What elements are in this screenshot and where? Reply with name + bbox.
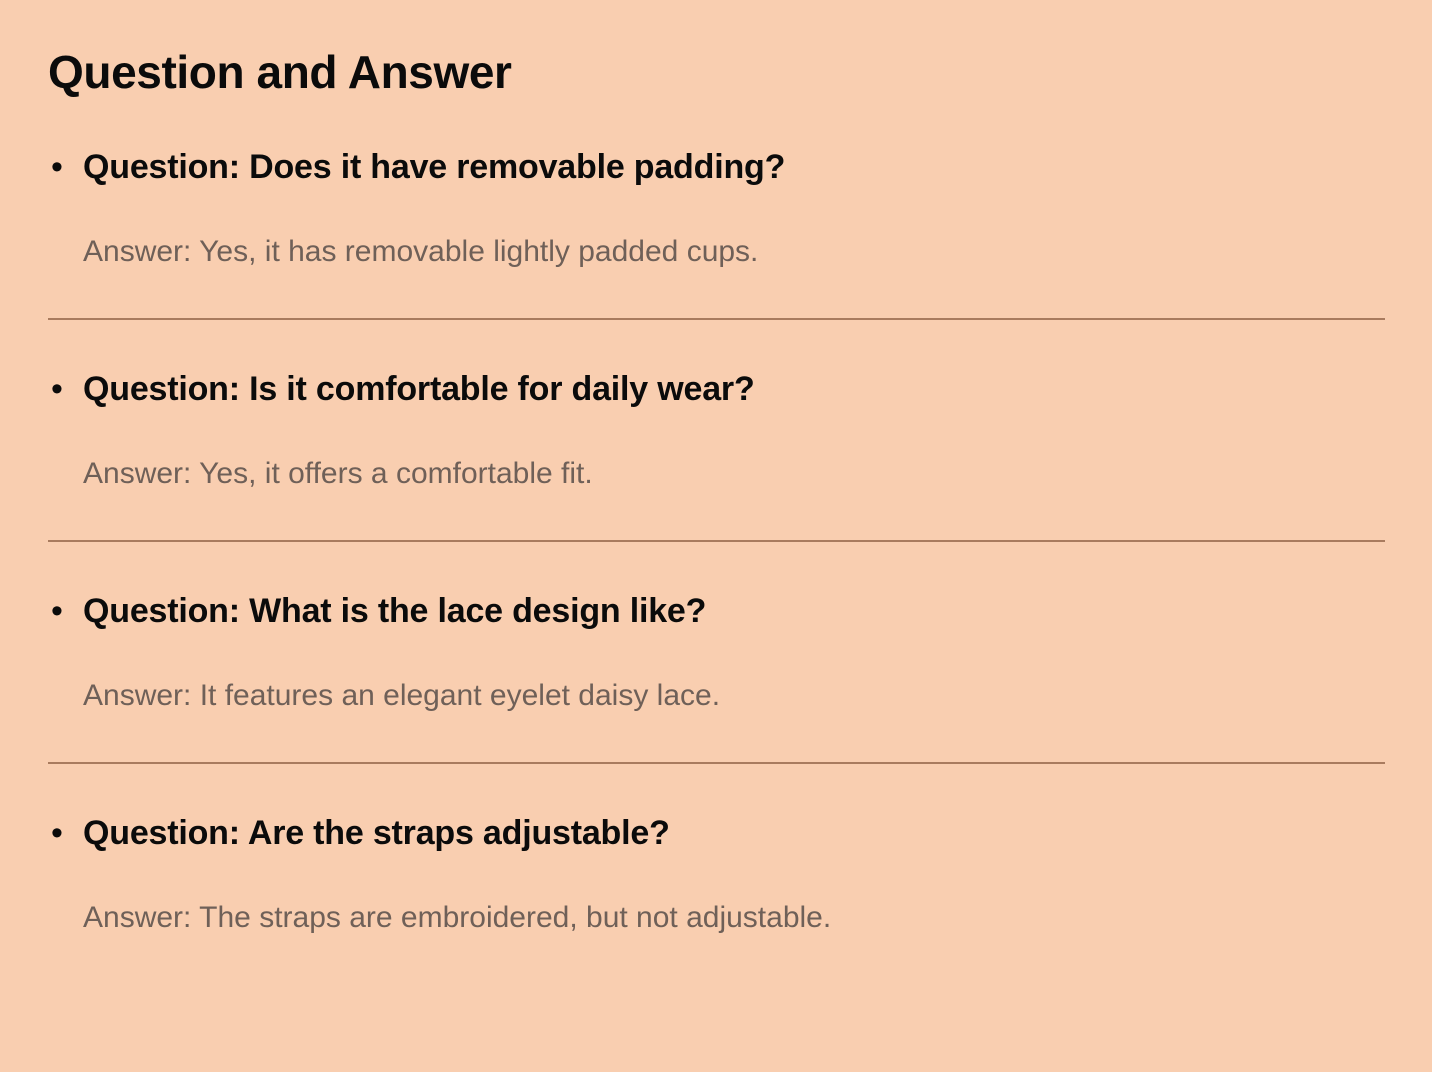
qa-item: • Question: Are the straps adjustable? A… bbox=[48, 810, 1384, 938]
qa-item: • Question: Does it have removable paddi… bbox=[48, 144, 1384, 320]
qa-answer: Answer: It features an elegant eyelet da… bbox=[48, 676, 1384, 716]
qa-question: Question: Is it comfortable for daily we… bbox=[83, 366, 1384, 412]
bullet-icon: • bbox=[48, 810, 83, 856]
bullet-icon: • bbox=[48, 144, 83, 190]
qa-question: Question: Does it have removable padding… bbox=[83, 144, 1384, 190]
qa-divider bbox=[48, 318, 1385, 320]
qa-question: Question: Are the straps adjustable? bbox=[83, 810, 1384, 856]
bullet-icon: • bbox=[48, 588, 83, 634]
qa-question: Question: What is the lace design like? bbox=[83, 588, 1384, 634]
bullet-icon: • bbox=[48, 366, 83, 412]
qa-question-row: • Question: Is it comfortable for daily … bbox=[48, 366, 1384, 412]
qa-answer: Answer: Yes, it has removable lightly pa… bbox=[48, 232, 1384, 272]
question-and-answer-page: Question and Answer • Question: Does it … bbox=[0, 0, 1432, 1072]
qa-question-row: • Question: Does it have removable paddi… bbox=[48, 144, 1384, 190]
qa-divider bbox=[48, 540, 1385, 542]
qa-question-row: • Question: Are the straps adjustable? bbox=[48, 810, 1384, 856]
qa-answer: Answer: The straps are embroidered, but … bbox=[48, 898, 1384, 938]
qa-item: • Question: What is the lace design like… bbox=[48, 588, 1384, 764]
qa-answer: Answer: Yes, it offers a comfortable fit… bbox=[48, 454, 1384, 494]
qa-list: • Question: Does it have removable paddi… bbox=[48, 144, 1384, 938]
qa-question-row: • Question: What is the lace design like… bbox=[48, 588, 1384, 634]
qa-divider bbox=[48, 762, 1385, 764]
qa-item: • Question: Is it comfortable for daily … bbox=[48, 366, 1384, 542]
page-title: Question and Answer bbox=[48, 0, 1384, 98]
